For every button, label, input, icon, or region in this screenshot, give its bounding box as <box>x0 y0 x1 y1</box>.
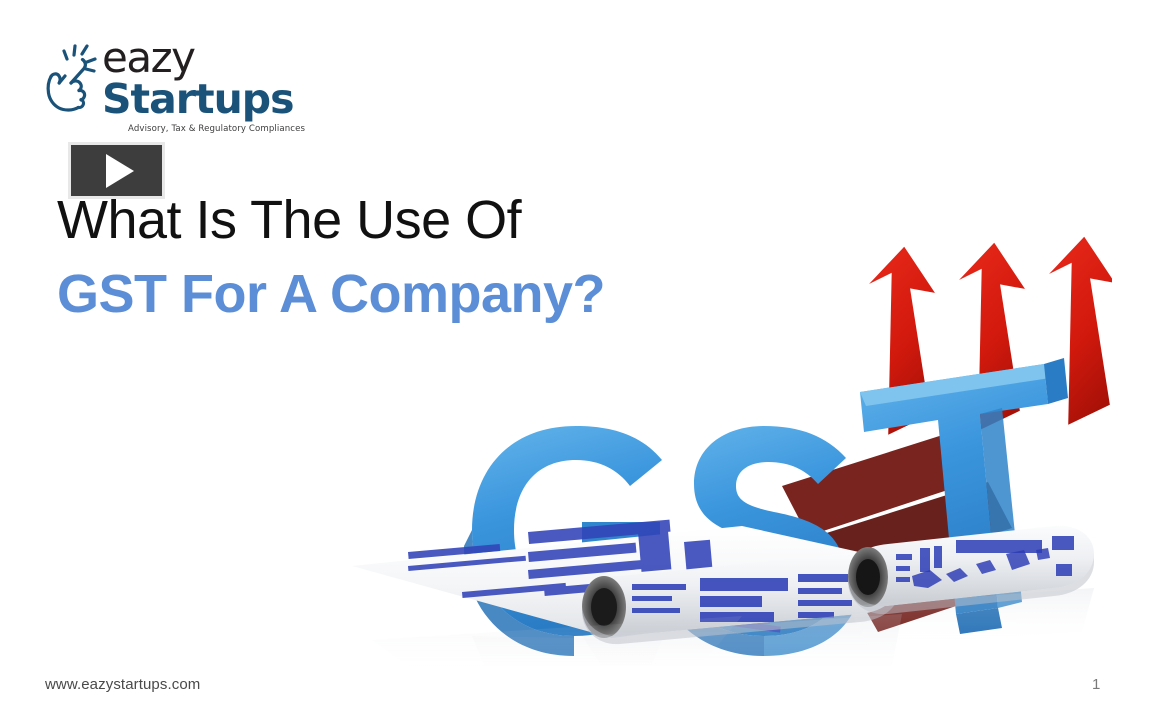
play-triangle-icon <box>106 154 134 188</box>
brand-logo[interactable]: eazy Startups Advisory, Tax & Regulatory… <box>38 38 313 126</box>
play-video-button[interactable] <box>68 142 165 199</box>
title-line-2: GST For A Company? <box>57 260 697 328</box>
logo-word-eazy: eazy <box>102 38 312 78</box>
snapping-fingers-hand-icon <box>38 42 100 114</box>
logo-tagline: Advisory, Tax & Regulatory Compliances <box>128 124 312 135</box>
page-title: What Is The Use Of GST For A Company? <box>57 186 697 328</box>
slide-canvas: eazy Startups Advisory, Tax & Regulatory… <box>0 0 1152 720</box>
footer-website-url[interactable]: www.eazystartups.com <box>45 676 200 693</box>
logo-word-startups: Startups <box>102 79 312 119</box>
brand-wordmark: eazy Startups Advisory, Tax & Regulatory… <box>102 38 312 126</box>
page-number: 1 <box>1092 676 1100 693</box>
